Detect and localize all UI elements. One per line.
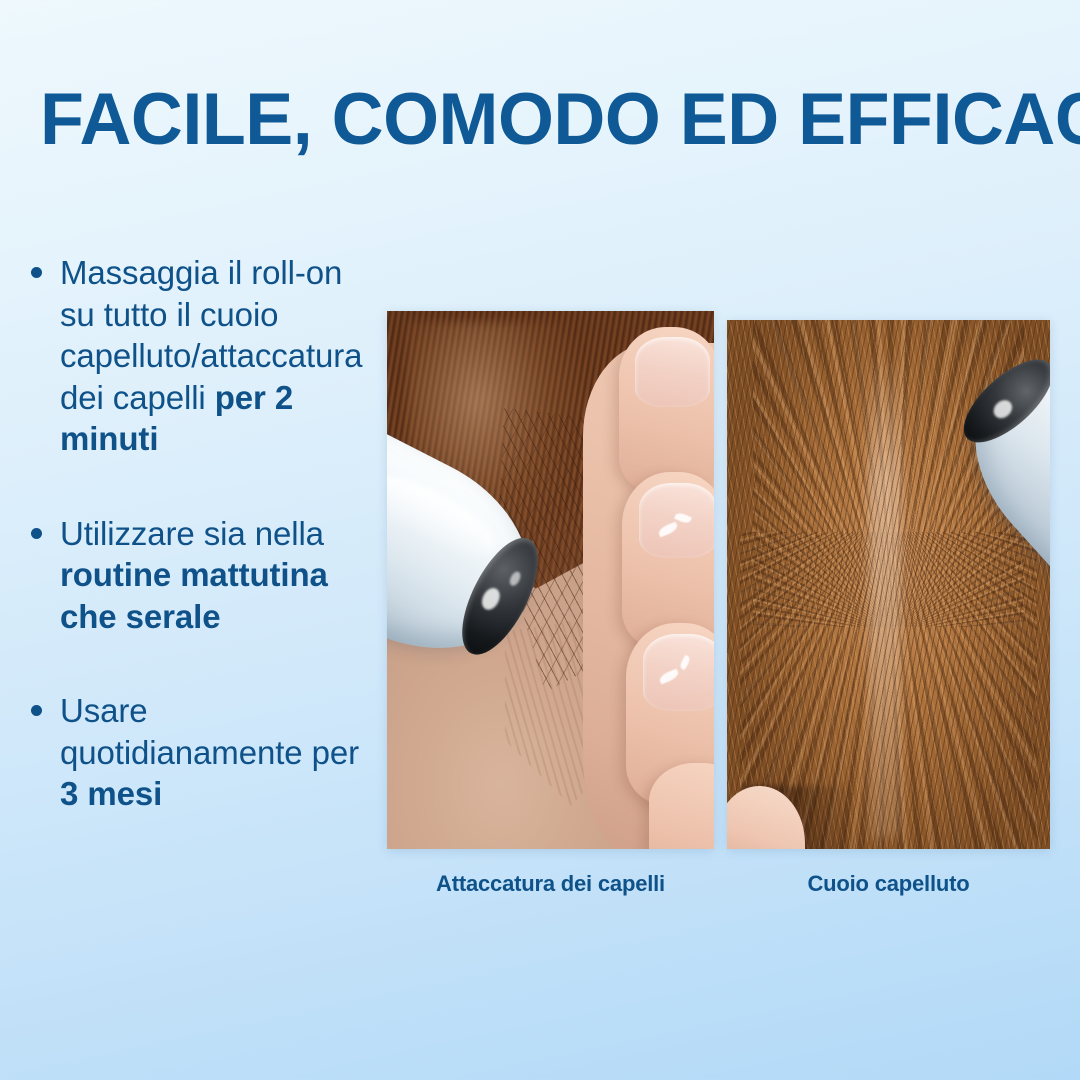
nail-art-leaf-icon [658,669,680,685]
fingernail [635,337,710,407]
list-item-text: Massaggia il roll-on su tutto il cuoio c… [60,254,362,457]
hairline-photo-caption: Attaccatura dei capelli [387,871,714,897]
fingernail [639,483,714,558]
hairline-photo-content [387,311,714,849]
list-item: Massaggia il roll-on su tutto il cuoio c… [22,252,382,460]
hairline-photo [387,311,714,849]
bullet-dot-icon [31,267,42,278]
list-item-text: Usare quotidianamente per 3 mesi [60,692,359,812]
list-item-text-normal: Usare quotidianamente per [60,692,359,771]
fingernail [643,634,714,711]
slide-canvas: FACILE, COMODO ED EFFICACE Massaggia il … [0,0,1080,1080]
list-item-text-normal: Utilizzare sia nella [60,515,324,552]
list-item: Usare quotidianamente per 3 mesi [22,690,382,815]
bullet-dot-icon [31,528,42,539]
nail-art-leaf-icon [678,654,691,670]
instructions-list: Massaggia il roll-on su tutto il cuoio c… [22,252,382,815]
scalp-photo-content [727,320,1050,849]
finger [619,327,714,494]
list-item-text-normal: Massaggia il roll-on su tutto il cuoio c… [60,254,362,416]
list-item: Utilizzare sia nella routine mattutina c… [22,513,382,638]
scalp-photo [727,320,1050,849]
bullet-dot-icon [31,705,42,716]
scalp-photo-caption: Cuoio capelluto [727,871,1050,897]
list-item-text: Utilizzare sia nella routine mattutina c… [60,515,328,635]
list-item-text-bold: 3 mesi [60,775,162,812]
list-item-text-bold: routine mattutina che serale [60,556,328,635]
page-title: FACILE, COMODO ED EFFICACE [40,82,1035,158]
nail-art-leaf-icon [657,521,679,537]
